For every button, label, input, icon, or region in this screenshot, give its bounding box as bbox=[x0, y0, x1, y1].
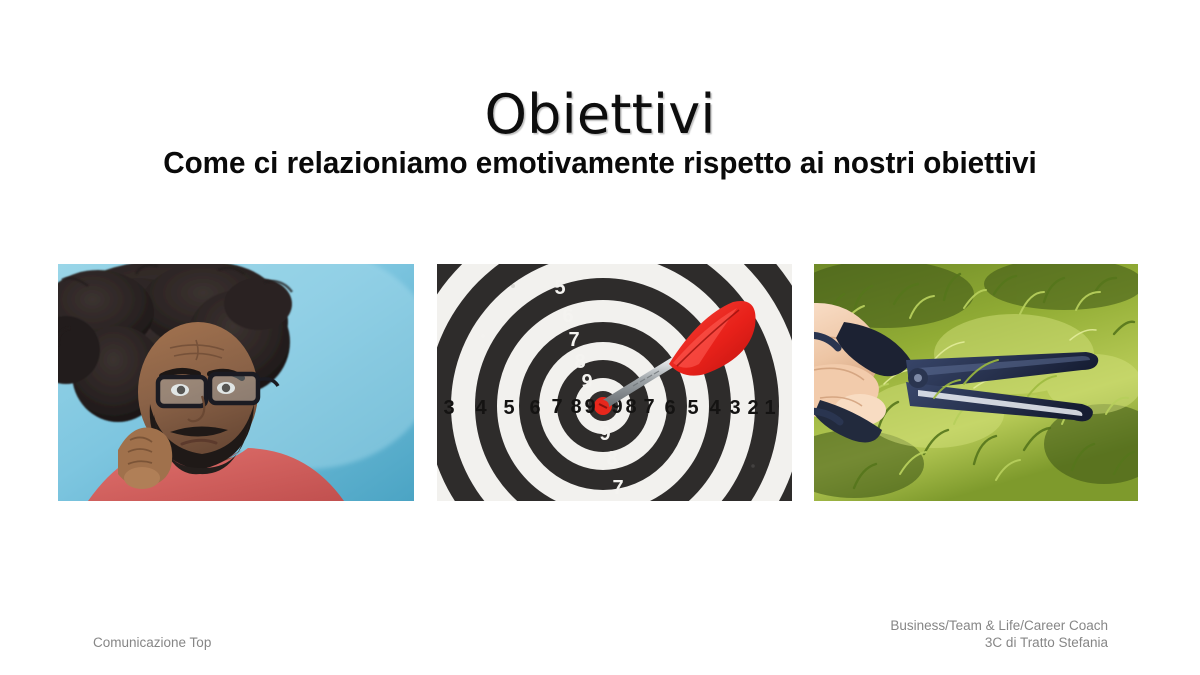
svg-text:8: 8 bbox=[574, 351, 585, 373]
dartboard-illustration: 3 4 5 6 7 8 9 9 8 7 6 5 4 3 2 bbox=[437, 264, 792, 501]
scissors-grass-illustration bbox=[814, 264, 1138, 501]
footer-right-line-1: Business/Team & Life/Career Coach bbox=[890, 617, 1108, 634]
svg-text:8: 8 bbox=[606, 448, 617, 470]
footer-right-block: Business/Team & Life/Career Coach 3C di … bbox=[890, 617, 1108, 652]
svg-text:6: 6 bbox=[664, 397, 675, 419]
worried-man-photo bbox=[58, 264, 414, 501]
scissors-grass-photo bbox=[814, 264, 1138, 501]
svg-text:9: 9 bbox=[599, 423, 610, 445]
svg-text:3: 3 bbox=[729, 397, 740, 419]
slide-canvas: Obiettivi Come ci relazioniamo emotivame… bbox=[0, 0, 1200, 675]
svg-text:8: 8 bbox=[625, 396, 636, 418]
svg-text:1: 1 bbox=[764, 397, 775, 419]
svg-text:7: 7 bbox=[568, 329, 579, 351]
svg-text:3: 3 bbox=[443, 397, 454, 419]
dartboard-photo: 3 4 5 6 7 8 9 9 8 7 6 5 4 3 2 bbox=[437, 264, 792, 501]
svg-text:2: 2 bbox=[747, 397, 758, 419]
svg-text:7: 7 bbox=[551, 396, 562, 418]
worried-man-illustration bbox=[58, 264, 414, 501]
svg-text:8: 8 bbox=[570, 396, 581, 418]
svg-text:6: 6 bbox=[529, 397, 540, 419]
svg-text:5: 5 bbox=[503, 397, 514, 419]
svg-text:7: 7 bbox=[612, 477, 623, 499]
svg-text:9: 9 bbox=[581, 371, 592, 393]
svg-text:9: 9 bbox=[584, 396, 595, 418]
page-subtitle: Come ci relazioniamo emotivamente rispet… bbox=[27, 146, 1173, 180]
svg-text:4: 4 bbox=[475, 397, 487, 419]
footer-right-line-2: 3C di Tratto Stefania bbox=[890, 634, 1108, 651]
svg-text:5: 5 bbox=[554, 277, 565, 299]
svg-text:7: 7 bbox=[643, 396, 654, 418]
footer-left-text: Comunicazione Top bbox=[93, 635, 211, 650]
page-title: Obiettivi bbox=[0, 88, 1200, 142]
svg-text:6: 6 bbox=[562, 305, 573, 327]
svg-text:4: 4 bbox=[709, 397, 721, 419]
svg-text:5: 5 bbox=[687, 397, 698, 419]
